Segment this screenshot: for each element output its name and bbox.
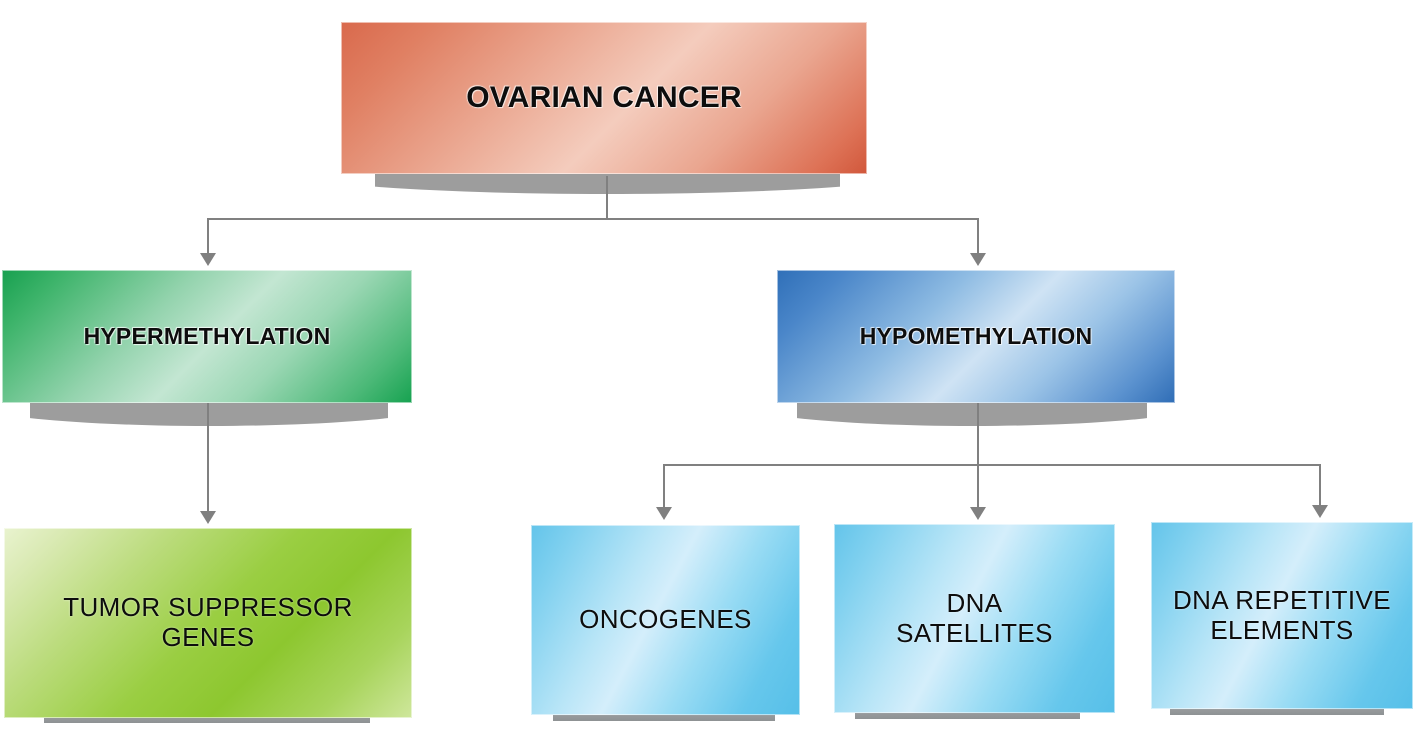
node-hypermethylation-label: HYPERMETHYLATION: [74, 323, 341, 349]
node-oncogenes-label: ONCOGENES: [569, 605, 762, 635]
node-tumor-suppressor-genes-label: TUMOR SUPPRESSOR GENES: [53, 593, 363, 652]
node-dna-repetitive-elements-label: DNA REPETITIVE ELEMENTS: [1163, 586, 1401, 645]
node-dna-satellites-label: DNA SATELLITES: [886, 589, 1063, 648]
node-hypomethylation-label: HYPOMETHYLATION: [850, 323, 1103, 349]
connector-hypomethylation-bus: [663, 464, 1319, 466]
connector-root-stem: [606, 176, 608, 219]
node-tumor-suppressor-genes[interactable]: TUMOR SUPPRESSOR GENES: [4, 528, 412, 718]
node-oncogenes[interactable]: ONCOGENES: [531, 525, 800, 715]
connector-hypermethylation-to-tsg: [207, 403, 209, 512]
connector-hypomethylation-stem: [977, 403, 979, 465]
connector-to-oncogenes: [663, 464, 665, 508]
arrowhead-to-hypermethylation: [200, 253, 216, 266]
arrowhead-to-dna-satellites: [970, 507, 986, 520]
connector-root-to-hypermethylation: [207, 218, 209, 254]
node-hypomethylation[interactable]: HYPOMETHYLATION: [777, 270, 1175, 403]
connector-to-dna-repetitive-elements: [1319, 464, 1321, 506]
arrowhead-to-tumor-suppressor-genes: [200, 511, 216, 524]
node-dna-repetitive-elements[interactable]: DNA REPETITIVE ELEMENTS: [1151, 522, 1413, 709]
connector-root-bus: [207, 218, 978, 220]
node-dna-satellites[interactable]: DNA SATELLITES: [834, 524, 1115, 713]
connector-to-dna-satellites: [977, 464, 979, 508]
node-ovarian-cancer[interactable]: OVARIAN CANCER: [341, 22, 867, 174]
node-ovarian-cancer-label: OVARIAN CANCER: [456, 81, 752, 115]
node-hypermethylation[interactable]: HYPERMETHYLATION: [2, 270, 412, 403]
arrowhead-to-hypomethylation: [970, 253, 986, 266]
connector-root-to-hypomethylation: [977, 218, 979, 254]
arrowhead-to-dna-repetitive-elements: [1312, 505, 1328, 518]
arrowhead-to-oncogenes: [656, 507, 672, 520]
diagram-canvas: OVARIAN CANCER HYPERMETHYLATION HYPOMETH…: [0, 0, 1417, 739]
